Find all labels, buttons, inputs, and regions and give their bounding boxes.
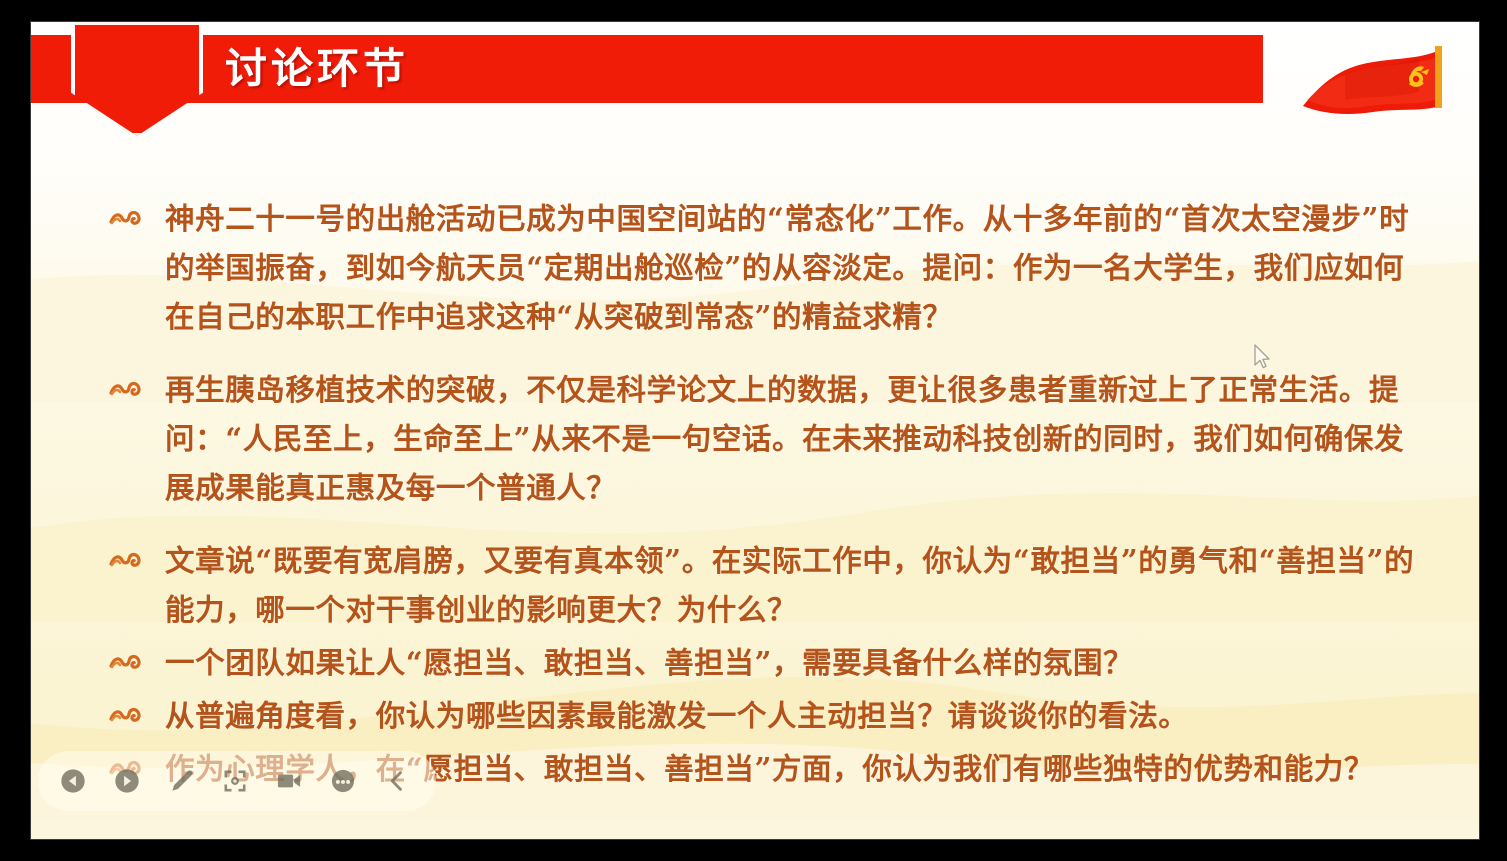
list-item[interactable]: 一个团队如果让人“愿担当、敢担当、善担当”，需要具备什么样的氛围？ xyxy=(109,638,1429,687)
flourish-bullet-icon xyxy=(109,194,165,228)
presentation-slide[interactable]: 讨论环节 xyxy=(31,22,1479,839)
next-slide-button[interactable] xyxy=(110,764,144,798)
flourish-bullet-icon xyxy=(109,638,165,672)
ellipsis-circle-icon xyxy=(329,767,357,795)
header-red-band xyxy=(31,35,1263,103)
list-item[interactable]: 从普遍角度看，你认为哪些因素最能激发一个人主动担当？请谈谈你的看法。 xyxy=(109,691,1429,740)
play-right-circle-icon xyxy=(113,767,141,795)
record-video-button[interactable] xyxy=(272,764,306,798)
list-item-text: 一个团队如果让人“愿担当、敢担当、善担当”，需要具备什么样的氛围？ xyxy=(165,638,1429,687)
capture-frame-icon xyxy=(221,767,249,795)
annotate-pen-button[interactable] xyxy=(164,764,198,798)
previous-slide-button[interactable] xyxy=(56,764,90,798)
video-camera-icon xyxy=(275,767,303,795)
screenshot-button[interactable] xyxy=(218,764,252,798)
list-item-text: 从普遍角度看，你认为哪些因素最能激发一个人主动担当？请谈谈你的看法。 xyxy=(165,691,1429,740)
discussion-question-list: 神舟二十一号的出舱活动已成为中国空间站的“常态化”工作。从十多年前的“首次太空漫… xyxy=(109,194,1429,797)
list-item[interactable]: 再生胰岛移植技术的突破，不仅是科学论文上的数据，更让很多患者重新过上了正常生活。… xyxy=(109,365,1429,512)
header-arrow-tag xyxy=(71,22,203,136)
list-item-text: 神舟二十一号的出舱活动已成为中国空间站的“常态化”工作。从十多年前的“首次太空漫… xyxy=(165,194,1429,341)
flourish-bullet-icon xyxy=(109,691,165,725)
page-title: 讨论环节 xyxy=(225,40,409,98)
screen-stage: 讨论环节 xyxy=(0,0,1507,861)
presenter-toolbar[interactable] xyxy=(38,751,436,811)
pen-icon xyxy=(167,767,195,795)
list-item-text: 文章说“既要有宽肩膀，又要有真本领”。在实际工作中，你认为“敢担当”的勇气和“善… xyxy=(165,536,1429,634)
flourish-bullet-icon xyxy=(109,365,165,399)
more-options-button[interactable] xyxy=(326,764,360,798)
party-flag-icon xyxy=(1285,30,1467,132)
list-item-text: 再生胰岛移植技术的突破，不仅是科学论文上的数据，更让很多患者重新过上了正常生活。… xyxy=(165,365,1429,512)
collapse-toolbar-button[interactable] xyxy=(380,764,414,798)
slide-header: 讨论环节 xyxy=(31,22,1479,152)
list-item[interactable]: 神舟二十一号的出舱活动已成为中国空间站的“常态化”工作。从十多年前的“首次太空漫… xyxy=(109,194,1429,341)
chevron-left-icon xyxy=(383,767,411,795)
play-left-circle-icon xyxy=(59,767,87,795)
flourish-bullet-icon xyxy=(109,536,165,570)
list-item[interactable]: 文章说“既要有宽肩膀，又要有真本领”。在实际工作中，你认为“敢担当”的勇气和“善… xyxy=(109,536,1429,634)
